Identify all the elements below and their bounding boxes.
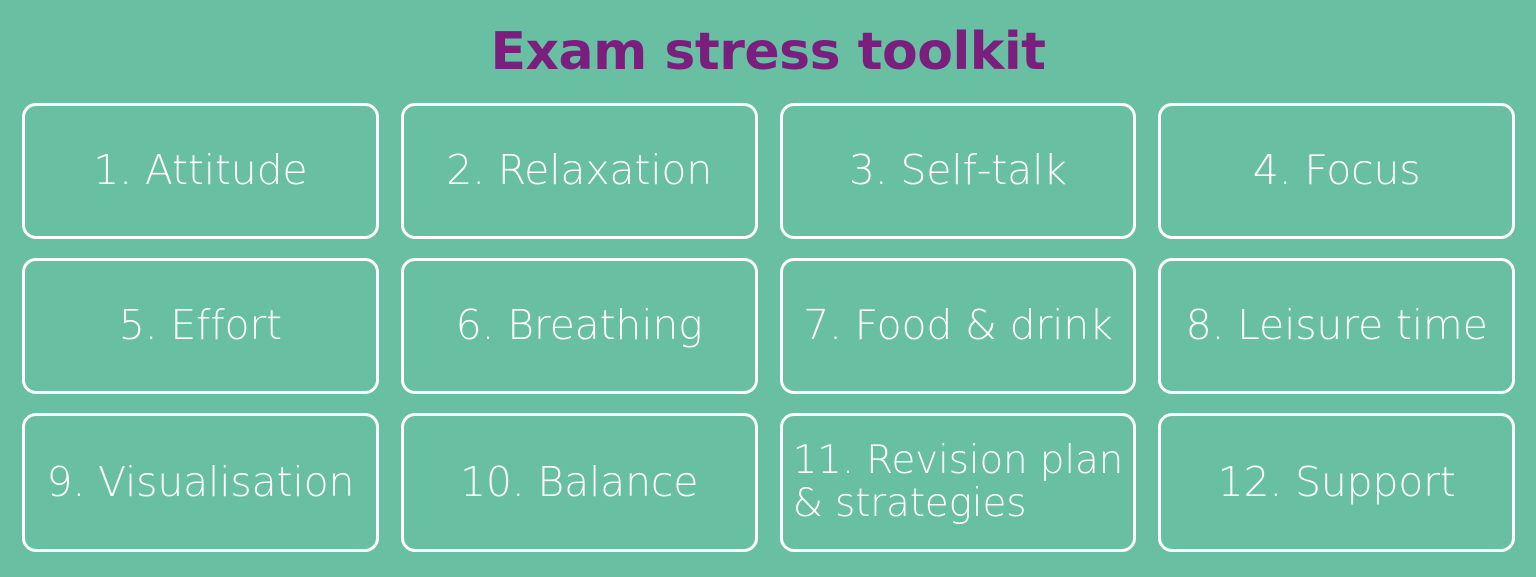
card-label: 7. Food & drink [803, 304, 1113, 347]
toolkit-card-2-relaxation[interactable]: 2. Relaxation [401, 103, 758, 239]
toolkit-card-5-effort[interactable]: 5. Effort [22, 258, 379, 394]
card-label: 1. Attitude [93, 149, 307, 192]
toolkit-card-1-attitude[interactable]: 1. Attitude [22, 103, 379, 239]
toolkit-card-8-leisure-time[interactable]: 8. Leisure time [1158, 258, 1515, 394]
card-label: 10. Balance [460, 461, 698, 504]
card-label: 12. Support [1218, 461, 1456, 504]
card-label: 11. Revision plan & strategies [793, 440, 1124, 526]
toolkit-card-12-support[interactable]: 12. Support [1158, 413, 1515, 552]
card-label: 2. Relaxation [446, 149, 712, 192]
card-label: 9. Visualisation [46, 461, 354, 504]
toolkit-card-11-revision-plan-and-strategies[interactable]: 11. Revision plan & strategies [780, 413, 1137, 552]
exam-stress-toolkit-poster: Exam stress toolkit 1. Attitude 2. Relax… [0, 0, 1536, 577]
card-label: 8. Leisure time [1186, 304, 1488, 347]
card-label: 4. Focus [1253, 149, 1421, 192]
toolkit-card-7-food-and-drink[interactable]: 7. Food & drink [780, 258, 1137, 394]
toolkit-card-10-balance[interactable]: 10. Balance [401, 413, 758, 552]
toolkit-card-grid: 1. Attitude 2. Relaxation 3. Self-talk 4… [22, 103, 1515, 552]
card-label: 6. Breathing [456, 304, 703, 347]
card-label: 5. Effort [119, 304, 282, 347]
title-bar: Exam stress toolkit [0, 14, 1536, 90]
toolkit-card-4-focus[interactable]: 4. Focus [1158, 103, 1515, 239]
toolkit-card-3-self-talk[interactable]: 3. Self-talk [780, 103, 1137, 239]
card-label: 3. Self-talk [849, 149, 1067, 192]
toolkit-card-9-visualisation[interactable]: 9. Visualisation [22, 413, 379, 552]
toolkit-card-6-breathing[interactable]: 6. Breathing [401, 258, 758, 394]
page-title: Exam stress toolkit [490, 26, 1045, 78]
